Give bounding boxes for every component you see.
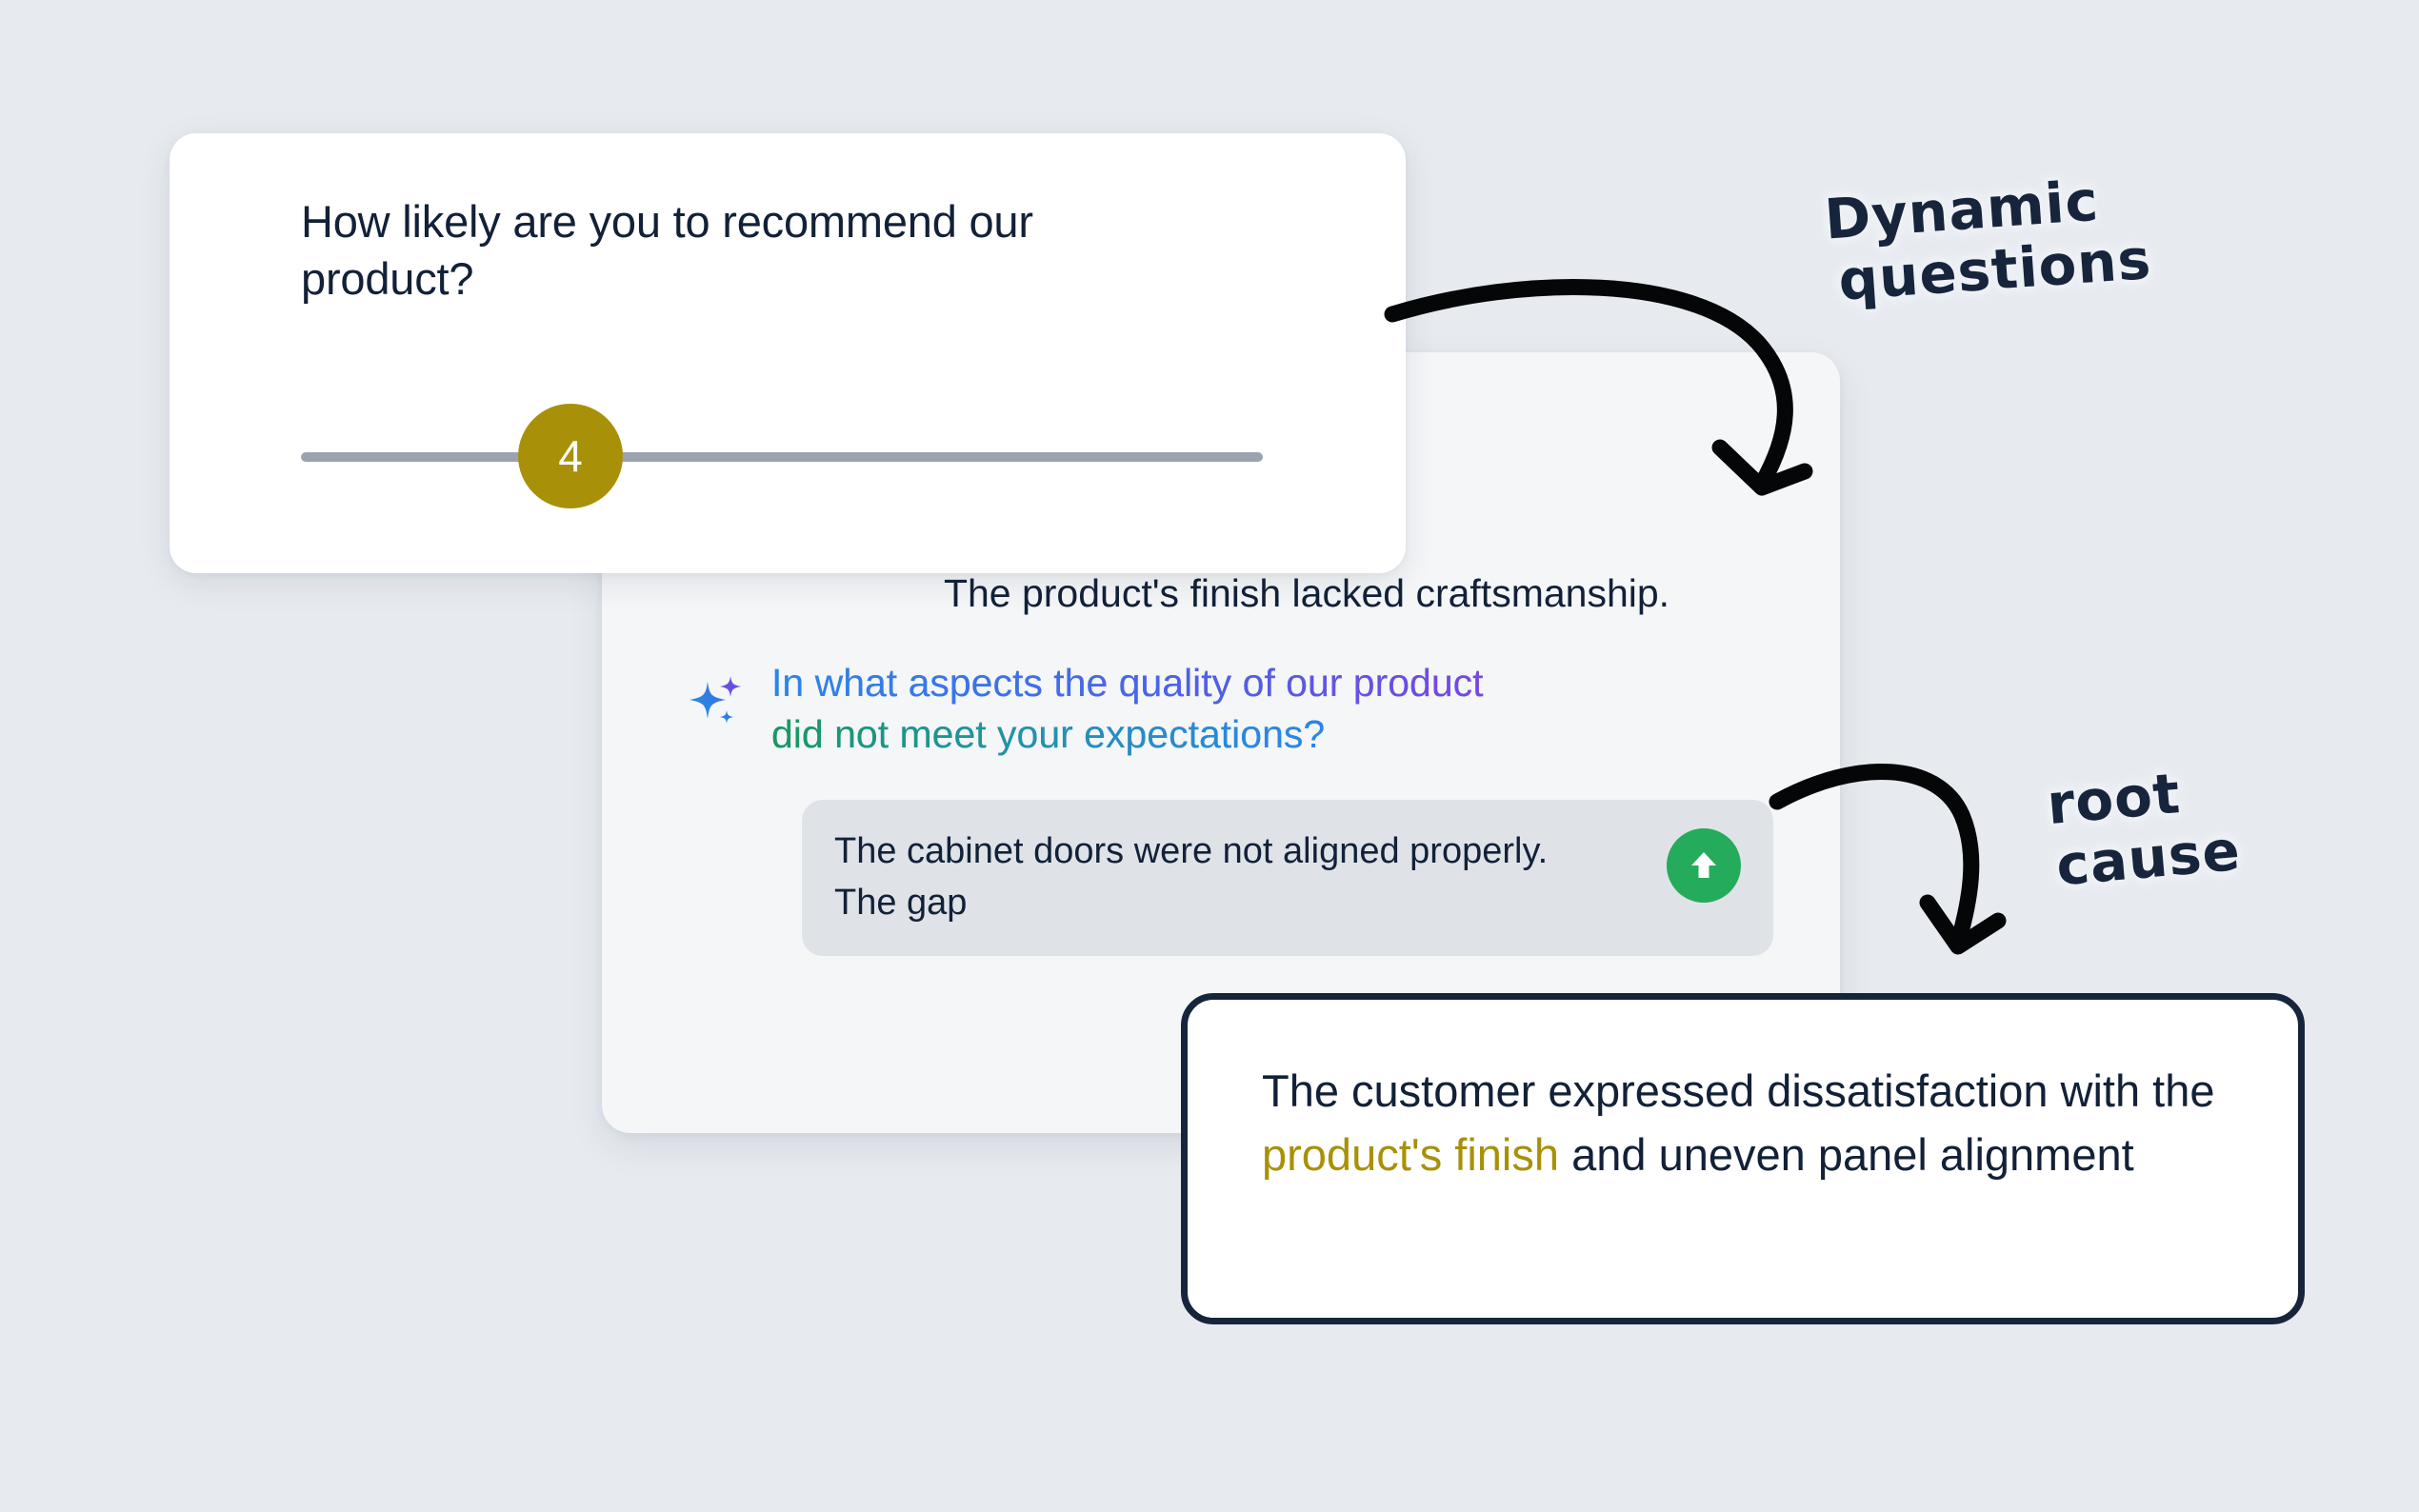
chat-question-2-line-2: did not meet your expectations?	[771, 708, 1484, 760]
slider-thumb[interactable]: 4	[518, 404, 623, 508]
annotation-dynamic-questions: Dynamic questions	[1823, 166, 2173, 313]
chat-question-2-row: In what aspects the quality of our produ…	[688, 657, 1811, 760]
callout-text: The customer expressed dissatisfaction w…	[1262, 1059, 2243, 1186]
submit-answer-button[interactable]	[1667, 828, 1741, 903]
nps-question-card: How likely are you to recommend our prod…	[170, 133, 1406, 573]
chat-question-2-text: In what aspects the quality of our produ…	[771, 657, 1484, 760]
chat-answer-1: The product's finish lacked craftsmanshi…	[783, 571, 1830, 616]
arrow-root-cause-head	[1928, 903, 1998, 946]
chat-question-2-line-1: In what aspects the quality of our produ…	[771, 657, 1484, 708]
nps-slider[interactable]: 4	[301, 405, 1263, 509]
sparkle-icon	[688, 670, 747, 729]
arrow-up-icon	[1685, 846, 1723, 886]
root-cause-callout: The customer expressed dissatisfaction w…	[1181, 993, 2305, 1324]
annotation-root-cause: root cause	[2045, 749, 2340, 898]
mockup-stage: How likely are you to recommend our prod…	[0, 0, 2419, 1512]
slider-value-label: 4	[558, 430, 583, 482]
slider-track[interactable]	[301, 452, 1263, 462]
callout-highlight: product's finish	[1262, 1129, 1559, 1180]
callout-text-part-1: The customer expressed dissatisfaction w…	[1262, 1065, 2215, 1116]
nps-question-text: How likely are you to recommend our prod…	[301, 193, 1158, 307]
answer-input-bubble[interactable]: The cabinet doors were not aligned prope…	[802, 800, 1773, 956]
answer-input-text[interactable]: The cabinet doors were not aligned prope…	[834, 826, 1596, 929]
callout-text-part-2: and uneven panel alignment	[1559, 1129, 2134, 1180]
